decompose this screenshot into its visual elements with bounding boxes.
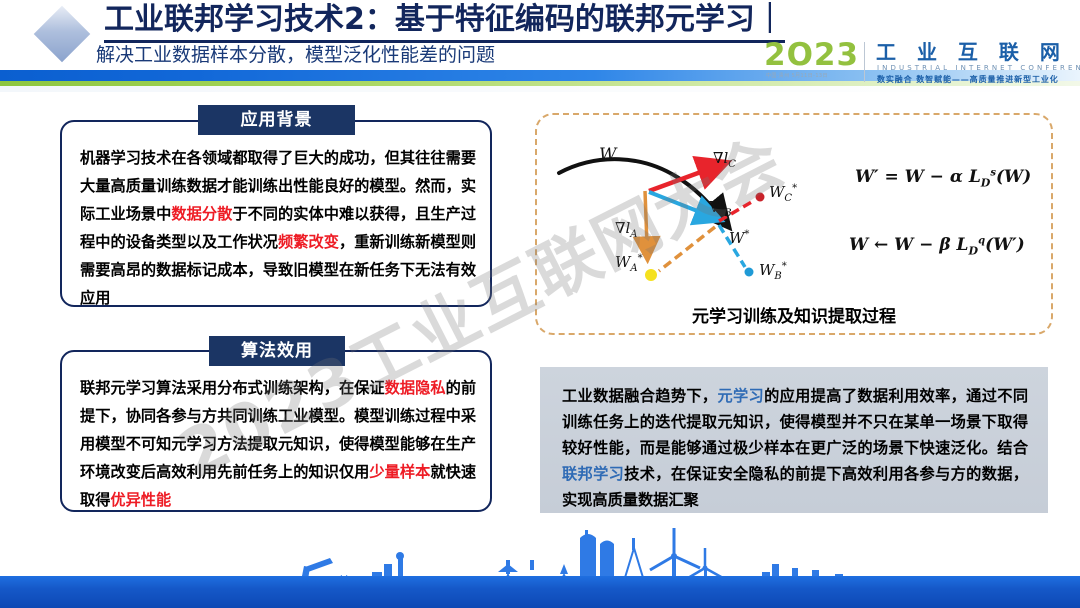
label-w: W — [599, 145, 618, 165]
point-wc — [756, 193, 765, 202]
dashed-path-a — [659, 227, 715, 271]
label-w-star: W* — [729, 229, 749, 247]
gradient-arrow-c — [649, 169, 709, 191]
panel-2-caption: 算法效用 — [209, 336, 345, 366]
point-wb — [745, 268, 754, 277]
summary-body: 工业数据融合趋势下，元学习的应用提高了数据利用效率，通过不同训练任务上的迭代提取… — [562, 383, 1028, 513]
logo-name-en: INDUSTRIAL INTERNET CONFERENCE — [877, 64, 1080, 72]
label-wa: WA* — [615, 253, 643, 274]
logo-slogan: 数实融合 数智赋能——高质量推进新型工业化 — [877, 74, 1059, 85]
panel-1-body: 机器学习技术在各领域都取得了巨大的成功，但其往往需要大量高质量训练数据才能训练出… — [80, 144, 476, 312]
logo-name-cn: 工 业 互 联 网 大 会 — [876, 40, 1080, 64]
diamond-icon — [34, 6, 91, 63]
panel-2-body: 联邦元学习算法采用分布式训练架构，在保证数据隐私的前提下，协同各参与方共同训练工… — [80, 374, 476, 514]
label-wc: WC* — [769, 183, 797, 204]
trajectory-curve — [559, 159, 717, 213]
summary-box: 工业数据融合趋势下，元学习的应用提高了数据利用效率，通过不同训练任务上的迭代提取… — [540, 367, 1048, 513]
logo-year: 2O23 — [764, 38, 859, 72]
meta-learning-diagram: W ∇lC ∇lB ∇lA WC* WB* WA* W* W′ = W − α … — [535, 113, 1053, 335]
conference-logo: 2O23 中国·贵州 5月11日-13日 工 业 互 联 网 大 会 INDUS… — [764, 40, 1076, 90]
logo-divider — [864, 42, 865, 82]
label-grad-a: ∇lA — [615, 219, 638, 240]
label-grad-c: ∇lC — [713, 149, 736, 170]
footer-water-band — [0, 576, 1080, 608]
label-wb: WB* — [759, 261, 787, 282]
gradient-arrow-b — [649, 192, 705, 214]
slide-canvas: 工业联邦学习技术2：基于特征编码的联邦元学习｜ 解决工业数据样本分散，模型泛化性… — [0, 0, 1080, 608]
slide-footer — [0, 520, 1080, 608]
label-grad-b: ∇lB — [709, 198, 732, 219]
page-title: 工业联邦学习技术2：基于特征编码的联邦元学习｜ — [104, 2, 785, 43]
panel-application-background: 机器学习技术在各领域都取得了巨大的成功，但其往往需要大量高质量训练数据才能训练出… — [60, 120, 492, 307]
page-subtitle: 解决工业数据样本分散，模型泛化性能差的问题 — [96, 42, 495, 68]
gradient-arrow-a — [645, 191, 647, 245]
panel-algorithm-effect: 联邦元学习算法采用分布式训练架构，在保证数据隐私的前提下，协同各参与方共同训练工… — [60, 350, 492, 512]
logo-year-location: 中国·贵州 5月11日-13日 — [766, 72, 828, 79]
panel-1-caption: 应用背景 — [198, 105, 355, 135]
point-wa — [645, 269, 657, 281]
equation-inner-update: W′ = W − α LDs(W) — [855, 167, 1031, 189]
diagram-caption: 元学习训练及知识提取过程 — [537, 302, 1051, 327]
equation-outer-update: W ← W − β LDq(W′) — [849, 235, 1025, 257]
